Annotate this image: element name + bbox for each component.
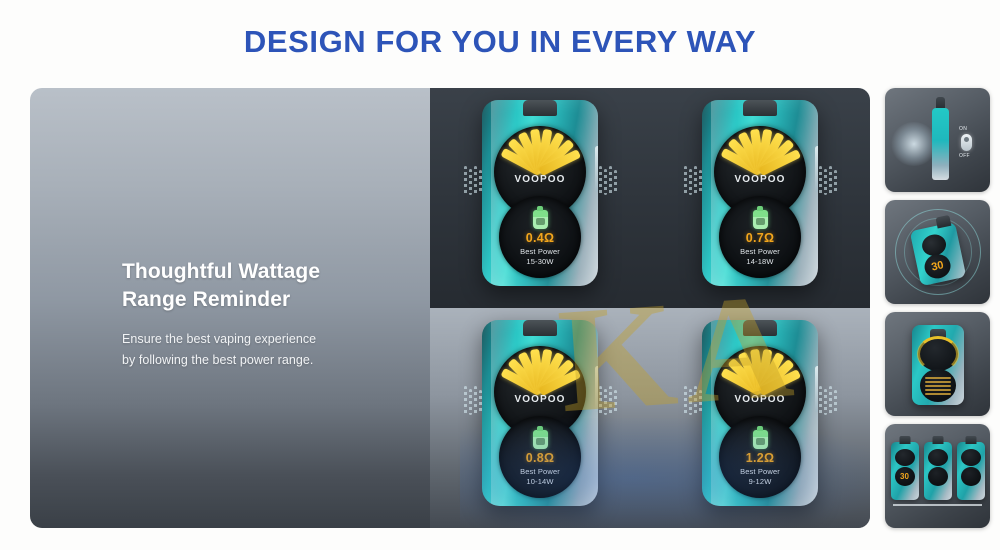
wattage-value: 30 [900, 472, 909, 481]
info-screen: 0.7Ω Best Power 14-18W [719, 196, 801, 278]
info-screen: 30 [922, 252, 952, 281]
fire-button[interactable] [595, 366, 598, 412]
vibration-wave-icon [819, 386, 836, 416]
vibration-wave-icon [599, 166, 616, 196]
mouthpiece [523, 100, 557, 116]
best-power-label: Best Power [740, 467, 780, 476]
mouthpiece [932, 436, 943, 444]
mouthpiece [523, 320, 557, 336]
wattage-value: 30 [930, 259, 944, 273]
best-power-label: Best Power [520, 467, 560, 476]
pod-icon [753, 210, 768, 229]
device-cell-top-left[interactable]: VOOPOO 0.4Ω Best Power 15-30W [430, 88, 650, 308]
thumbnail-device-rings[interactable]: 30 [885, 200, 990, 304]
vape-device [932, 108, 949, 180]
resistance-value: 0.4Ω [526, 232, 555, 246]
wattage-range: 14-18W [746, 257, 773, 266]
copy-title-line-1: Thoughtful Wattage [122, 258, 422, 286]
info-text-lines [925, 377, 951, 397]
switch-on-label: ON [959, 126, 967, 132]
device-cell-bottom-left[interactable]: VOOPOO 0.8Ω Best Power 10-14W [430, 308, 650, 528]
thumbnail-rail: ON OFF 30 [885, 88, 990, 528]
info-screen: 1.2Ω Best Power 9-12W [719, 416, 801, 498]
wattage-arc-icon [917, 336, 959, 372]
copy-title: Thoughtful Wattage Range Reminder [122, 258, 422, 313]
copy-subtitle: Ensure the best vaping experience by fol… [122, 329, 422, 370]
wattage-range: 10-14W [526, 477, 553, 486]
info-screen: 30 [895, 467, 915, 486]
vibration-wave-icon [464, 166, 481, 196]
vibration-wave-icon [684, 166, 701, 196]
device-cell-top-right[interactable]: VOOPOO 0.7Ω Best Power 14-18W [650, 88, 870, 308]
power-toggle-icon [961, 134, 972, 151]
vape-device [912, 325, 964, 405]
device-cell-bottom-right[interactable]: VOOPOO 1.2Ω Best Power 9-12W [650, 308, 870, 528]
vape-device: VOOPOO 1.2Ω Best Power 9-12W [702, 320, 818, 506]
vibration-wave-icon [599, 386, 616, 416]
dial-screen [961, 449, 981, 466]
best-power-label: Best Power [740, 247, 780, 256]
resistance-value: 1.2Ω [746, 452, 775, 466]
copy-sub-line-2: by following the best power range. [122, 350, 422, 370]
hero-panel: VOOPOO 0.4Ω Best Power 15-30W [30, 88, 870, 528]
copy-block: Thoughtful Wattage Range Reminder Ensure… [122, 258, 422, 370]
brand-logo: VOOPOO [494, 174, 586, 185]
switch-off-label: OFF [959, 153, 970, 159]
fire-button[interactable] [595, 146, 598, 192]
fire-button[interactable] [815, 146, 818, 192]
fire-button[interactable] [815, 366, 818, 412]
thumbnail-device-switch[interactable]: ON OFF [885, 88, 990, 192]
mouthpiece [743, 320, 777, 336]
vape-device [924, 442, 952, 500]
vibration-wave-icon [684, 386, 701, 416]
dial-screen [895, 449, 915, 466]
vape-device: VOOPOO 0.7Ω Best Power 14-18W [702, 100, 818, 286]
best-power-label: Best Power [520, 247, 560, 256]
info-screen: 0.8Ω Best Power 10-14W [499, 416, 581, 498]
thumbnail-device-lineup[interactable]: 30 [885, 424, 990, 528]
info-screen [961, 467, 981, 486]
vibration-wave-icon [819, 166, 836, 196]
device-grid: VOOPOO 0.4Ω Best Power 15-30W [430, 88, 870, 528]
page-title: DESIGN FOR YOU IN EVERY WAY [0, 24, 1000, 60]
copy-sub-line-1: Ensure the best vaping experience [122, 329, 422, 349]
device-lineup: 30 [885, 442, 990, 500]
pod-icon [533, 430, 548, 449]
resistance-value: 0.7Ω [746, 232, 775, 246]
dial-screen [928, 449, 948, 466]
shelf-line [893, 504, 982, 506]
vape-device: 30 [891, 442, 919, 500]
brand-logo: VOOPOO [494, 394, 586, 405]
pod-icon [533, 210, 548, 229]
mouthpiece [935, 215, 951, 229]
copy-title-line-2: Range Reminder [122, 286, 422, 314]
info-screen [928, 467, 948, 486]
vibration-wave-icon [464, 386, 481, 416]
info-screen: 0.4Ω Best Power 15-30W [499, 196, 581, 278]
mouthpiece [743, 100, 777, 116]
brand-logo: VOOPOO [714, 174, 806, 185]
wattage-range: 15-30W [526, 257, 553, 266]
mouthpiece [899, 436, 910, 444]
brand-logo: VOOPOO [714, 394, 806, 405]
thumbnail-device-front[interactable] [885, 312, 990, 416]
pod-icon [753, 430, 768, 449]
mouthpiece [965, 436, 976, 444]
light-glow [891, 122, 937, 166]
wattage-range: 9-12W [749, 477, 772, 486]
vape-device: VOOPOO 0.8Ω Best Power 10-14W [482, 320, 598, 506]
resistance-value: 0.8Ω [526, 452, 555, 466]
vape-device [957, 442, 985, 500]
vape-device: VOOPOO 0.4Ω Best Power 15-30W [482, 100, 598, 286]
